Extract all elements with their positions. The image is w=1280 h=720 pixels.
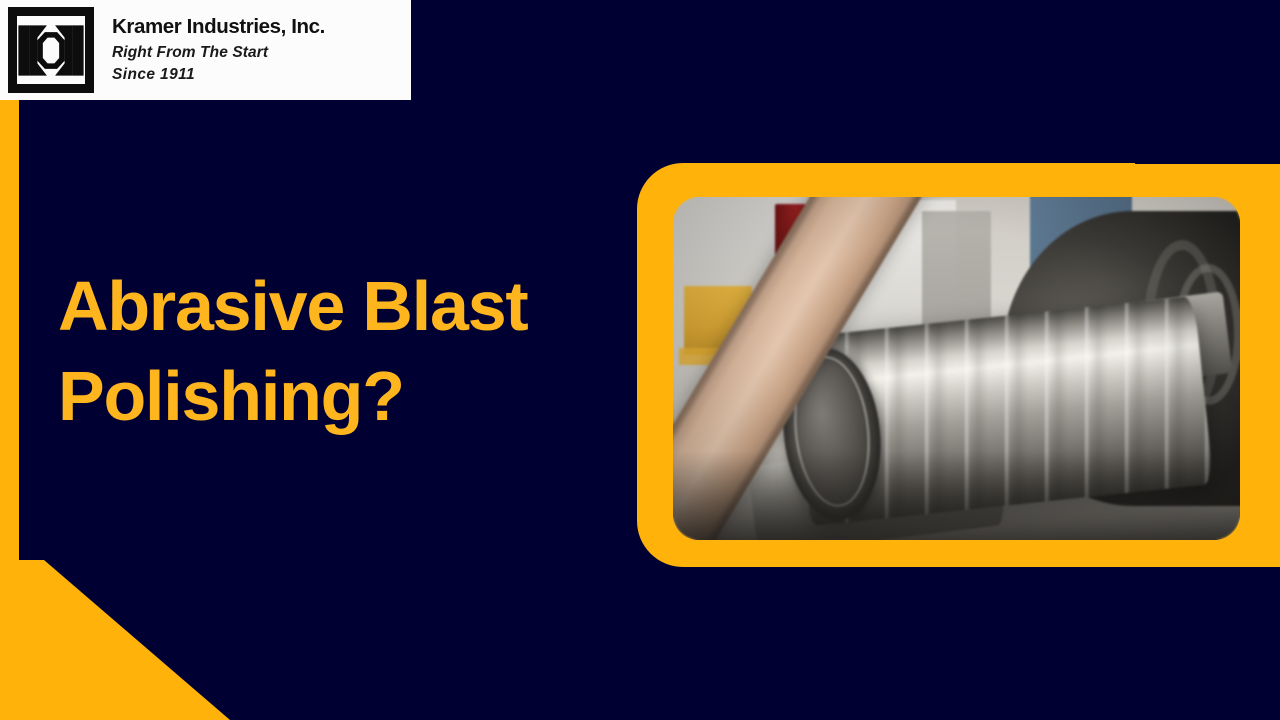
photo-frame: [673, 197, 1240, 540]
bottom-right-navy-notch: [1120, 567, 1280, 720]
headline-line-2: Polishing?: [58, 352, 658, 442]
logo-text-block: Kramer Industries, Inc. Right From The S…: [112, 17, 325, 83]
roller-polishing-photo: [673, 197, 1240, 540]
headline-line-1: Abrasive Blast: [58, 262, 658, 352]
logo-since: Since 1911: [112, 67, 325, 83]
slide-canvas: Kramer Industries, Inc. Right From The S…: [0, 0, 1280, 720]
logo-company-name: Kramer Industries, Inc.: [112, 17, 325, 38]
photo-softening: [673, 197, 1240, 540]
top-right-navy-notch: [1120, 0, 1280, 164]
headline: Abrasive Blast Polishing?: [58, 262, 658, 441]
logo-lockup: Kramer Industries, Inc. Right From The S…: [0, 0, 411, 100]
logo-tagline: Right From The Start: [112, 45, 325, 61]
kramer-k-mark-icon: [8, 7, 94, 93]
